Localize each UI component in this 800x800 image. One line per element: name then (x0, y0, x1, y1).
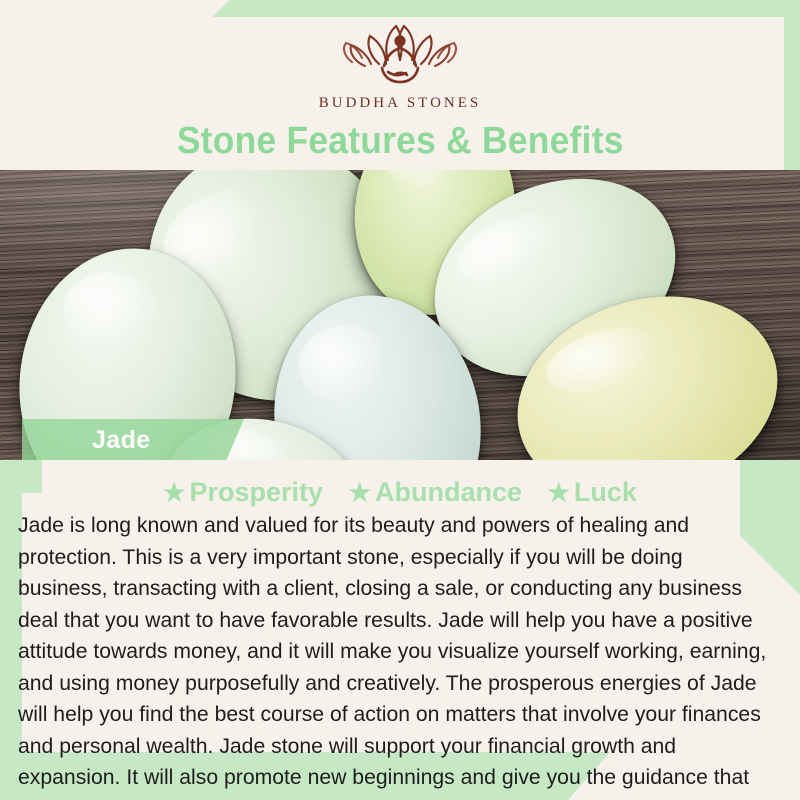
brand-logo: BUDDHA STONES (0, 18, 800, 112)
page-title: Stone Features & Benefits (177, 120, 624, 163)
hero-photo-container: Jade (0, 170, 800, 460)
star-icon: ★ (349, 479, 371, 507)
jade-stones-photo (0, 170, 800, 460)
brand-name: BUDDHA STONES (319, 95, 482, 112)
benefits-list: ★Prosperity ★Abundance ★Luck (0, 477, 800, 508)
star-icon: ★ (548, 479, 570, 507)
description-text: Jade is long known and valued for its be… (18, 510, 774, 800)
stone-info-card: BUDDHA STONES Stone Features & Benefits … (0, 0, 800, 800)
benefit-label: Prosperity (189, 477, 323, 507)
star-icon: ★ (163, 479, 185, 507)
benefit-item-luck: ★Luck (548, 477, 637, 508)
benefit-label: Abundance (375, 477, 522, 507)
benefit-item-abundance: ★Abundance (349, 477, 522, 508)
header: BUDDHA STONES Stone Features & Benefits (0, 0, 800, 170)
stone-name-banner: Jade (22, 419, 244, 460)
benefit-item-prosperity: ★Prosperity (163, 477, 323, 508)
benefit-label: Luck (574, 477, 637, 507)
stone-name-label: Jade (92, 426, 151, 455)
lotus-meditation-icon (324, 18, 476, 90)
title-bar: Stone Features & Benefits (0, 120, 800, 163)
